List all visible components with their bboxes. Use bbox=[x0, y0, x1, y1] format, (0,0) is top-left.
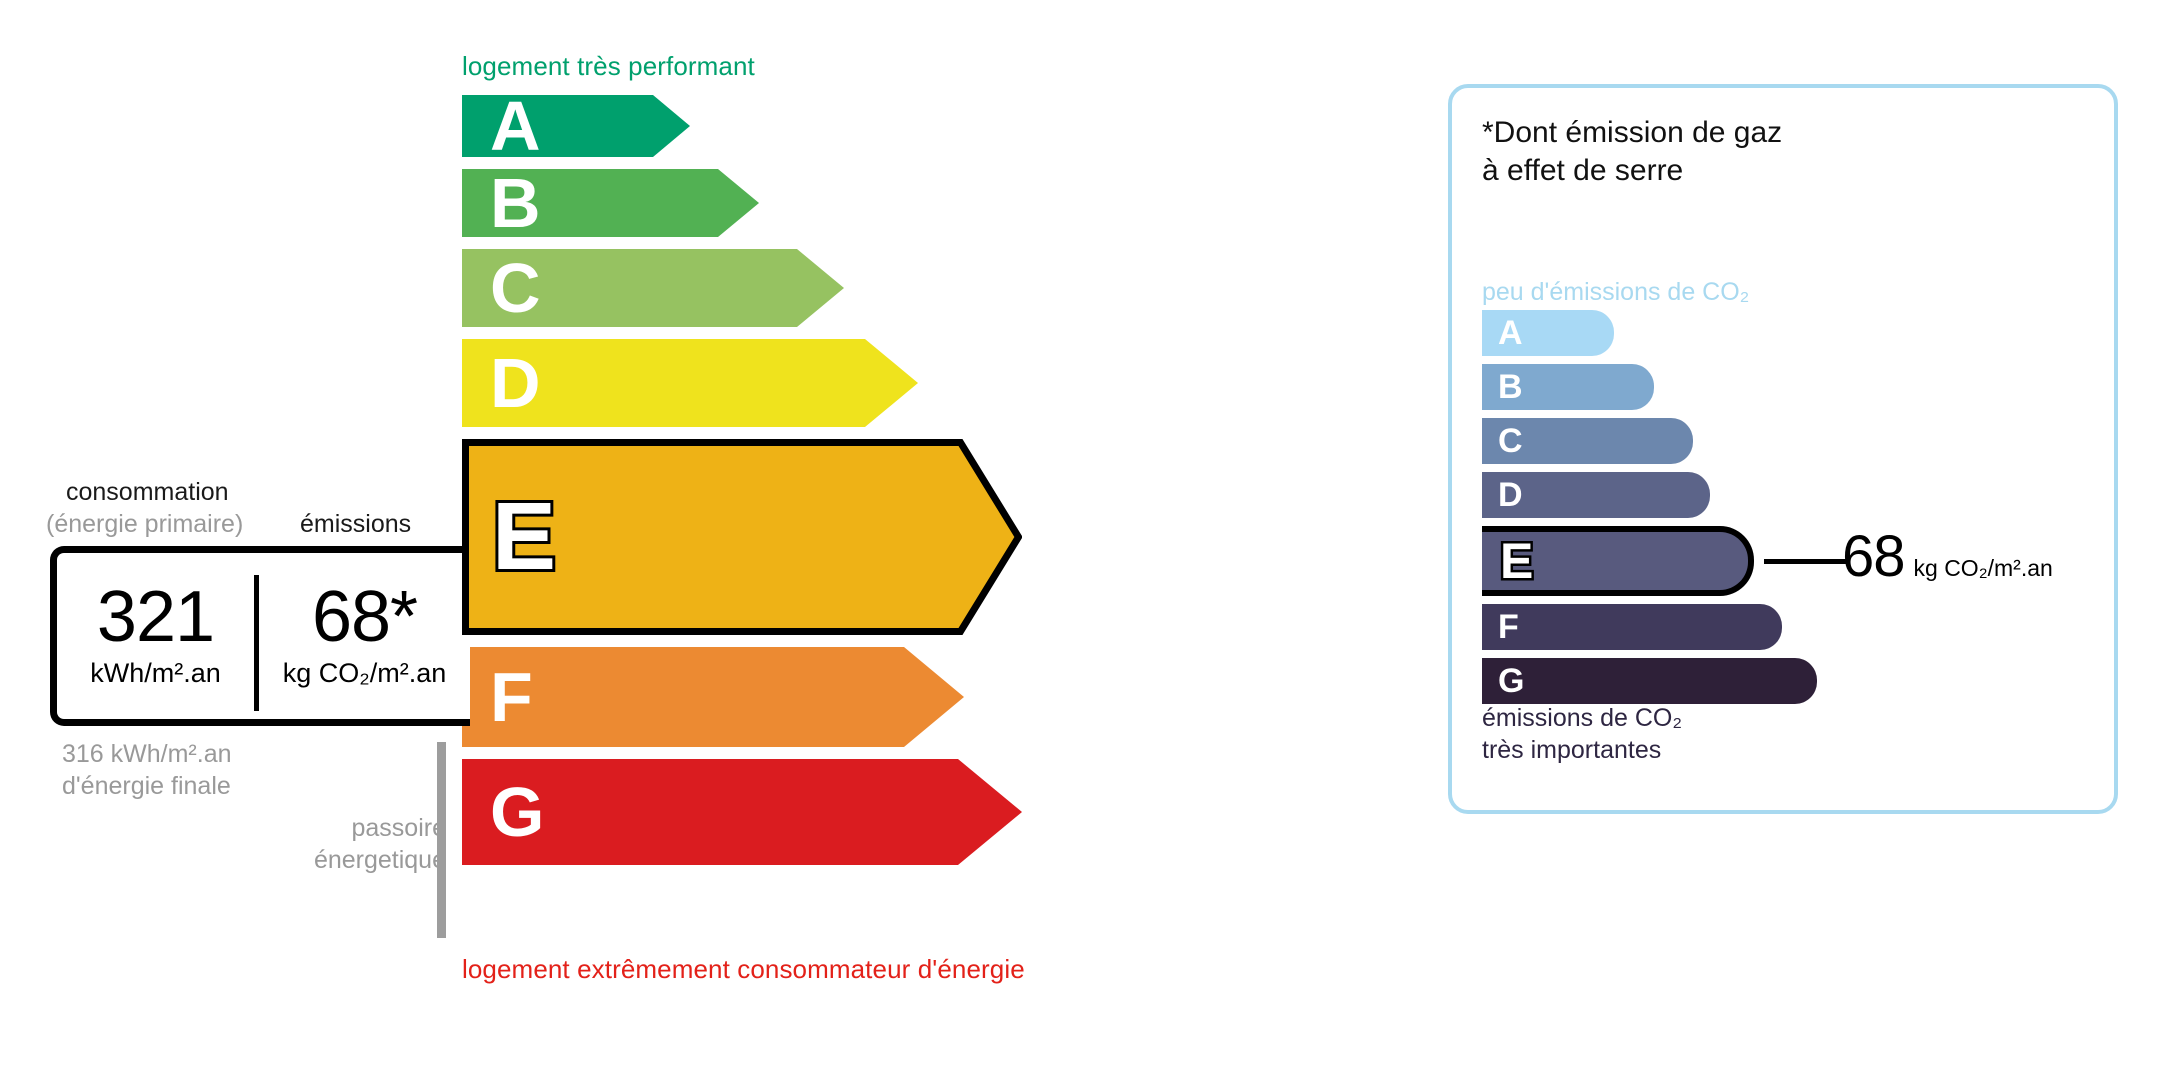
consumption-header: consommation bbox=[66, 478, 229, 507]
co2-callout-leader-line bbox=[1764, 559, 1846, 564]
co2-grade-letter-a: A bbox=[1498, 316, 1523, 350]
co2-grade-letter-c: C bbox=[1498, 424, 1523, 458]
co2-bottom-line1: émissions de CO₂ bbox=[1482, 702, 1682, 734]
co2-grade-letter-g: G bbox=[1498, 664, 1524, 698]
energy-arrow-shape-g: G bbox=[462, 759, 1022, 865]
energy-arrow-shape-d: D bbox=[462, 339, 918, 427]
energy-grade-g: G bbox=[462, 759, 1022, 865]
passoire-note: passoire énergetique bbox=[286, 812, 446, 876]
co2-grade-b: B bbox=[1482, 364, 1654, 410]
value-summary-box: 321 kWh/m².an 68* kg CO₂/m².an bbox=[50, 546, 470, 726]
co2-grade-f: F bbox=[1482, 604, 1782, 650]
co2-panel-title: *Dont émission de gaz à effet de serre bbox=[1482, 114, 1782, 189]
energy-grade-e: E bbox=[462, 439, 1022, 635]
emission-unit: kg CO₂/m².an bbox=[283, 658, 447, 689]
passoire-line2: énergetique bbox=[286, 844, 446, 876]
consumption-subheader: (énergie primaire) bbox=[46, 510, 243, 539]
energy-arrow-shape-c: C bbox=[462, 249, 844, 327]
co2-grade-c: C bbox=[1482, 418, 1693, 464]
co2-bottom-line2: très importantes bbox=[1482, 734, 1682, 766]
final-energy-line2: d'énergie finale bbox=[62, 770, 232, 802]
energy-arrow-shape-b: B bbox=[462, 169, 759, 237]
energy-grade-c: C bbox=[462, 249, 844, 327]
consumption-value-cell: 321 kWh/m².an bbox=[57, 553, 254, 719]
co2-bar-shape-f bbox=[1482, 604, 1782, 650]
consumption-value: 321 bbox=[97, 583, 214, 652]
energy-grade-f: F bbox=[462, 647, 964, 747]
co2-top-caption: peu d'émissions de CO₂ bbox=[1482, 278, 1749, 307]
co2-bar-shape-g bbox=[1482, 658, 1817, 704]
energy-grade-letter-b: B bbox=[490, 168, 541, 238]
co2-bottom-caption: émissions de CO₂ très importantes bbox=[1482, 702, 1682, 766]
co2-callout: 68 kg CO₂/m².an bbox=[1842, 523, 2053, 590]
co2-grade-letter-e: E bbox=[1500, 536, 1533, 586]
greenhouse-gas-panel: *Dont émission de gaz à effet de serre p… bbox=[1448, 84, 2118, 814]
final-energy-note: 316 kWh/m².an d'énergie finale bbox=[62, 738, 232, 802]
energy-grade-letter-g: G bbox=[490, 777, 544, 847]
energy-grade-letter-e: E bbox=[492, 489, 556, 585]
energy-grade-letter-d: D bbox=[490, 348, 541, 418]
energy-performance-panel: logement très performant logement extrêm… bbox=[0, 0, 1400, 1079]
energy-arrow-shape-f: F bbox=[462, 647, 964, 747]
co2-grade-letter-d: D bbox=[1498, 478, 1523, 512]
co2-grade-e: E bbox=[1482, 526, 1754, 596]
emission-value: 68* bbox=[312, 583, 417, 652]
energy-top-caption: logement très performant bbox=[462, 51, 755, 82]
energy-grade-a: A bbox=[462, 95, 690, 157]
consumption-unit: kWh/m².an bbox=[90, 658, 221, 689]
co2-grade-a: A bbox=[1482, 310, 1614, 356]
co2-title-line1: *Dont émission de gaz bbox=[1482, 114, 1782, 152]
co2-grade-g: G bbox=[1482, 658, 1817, 704]
passoire-line1: passoire bbox=[286, 812, 446, 844]
emissions-header: émissions bbox=[300, 510, 411, 539]
arrow-polygon-g bbox=[462, 759, 1022, 865]
energy-arrow-shape-e: E bbox=[462, 439, 1022, 635]
energy-grade-letter-a: A bbox=[490, 91, 541, 161]
final-energy-line1: 316 kWh/m².an bbox=[62, 738, 232, 770]
emission-value-cell: 68* kg CO₂/m².an bbox=[259, 553, 470, 719]
energy-arrow-shape-a: A bbox=[462, 95, 690, 157]
co2-callout-value: 68 bbox=[1842, 523, 1905, 590]
co2-grade-letter-f: F bbox=[1498, 610, 1519, 644]
energy-bottom-caption: logement extrêmement consommateur d'éner… bbox=[462, 954, 1025, 985]
energy-grade-b: B bbox=[462, 169, 759, 237]
energy-grade-d: D bbox=[462, 339, 918, 427]
co2-callout-unit: kg CO₂/m².an bbox=[1914, 555, 2053, 582]
co2-title-line2: à effet de serre bbox=[1482, 152, 1782, 190]
energy-grade-letter-c: C bbox=[490, 253, 541, 323]
co2-grade-letter-b: B bbox=[1498, 370, 1523, 404]
energy-grade-letter-f: F bbox=[490, 662, 533, 732]
passoire-marker-bar bbox=[437, 742, 446, 938]
arrow-polygon-f bbox=[462, 647, 964, 747]
co2-grade-d: D bbox=[1482, 472, 1710, 518]
